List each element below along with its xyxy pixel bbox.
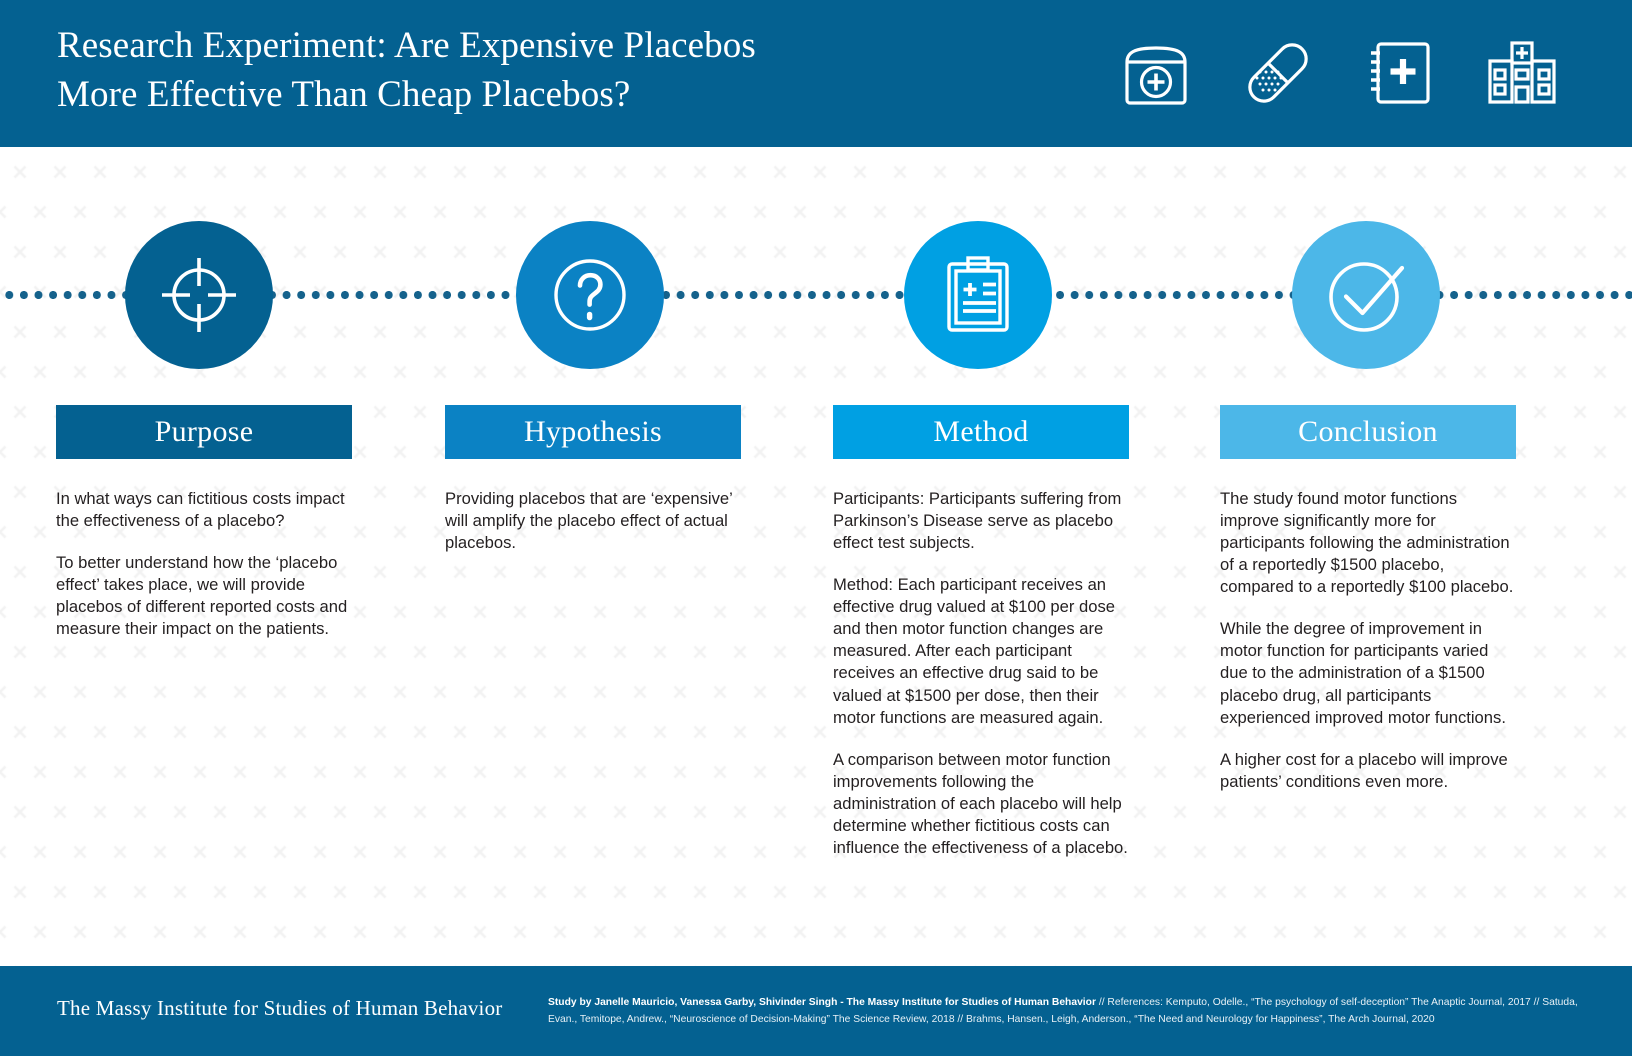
paragraph: Providing placebos that are ‘expensive’ … — [445, 488, 741, 554]
check-circle-icon — [1317, 246, 1415, 344]
column-label-method: Method — [933, 415, 1028, 449]
medical-notebook-icon — [1358, 31, 1442, 115]
paragraph: While the degree of improvement in motor… — [1220, 618, 1516, 728]
footer-credits-and-references: Study by Janelle Mauricio, Vanessa Garby… — [548, 995, 1588, 1028]
medical-clipboard-icon — [932, 249, 1024, 341]
paragraph: Method: Each participant receives an eff… — [833, 574, 1129, 728]
column-header-conclusion: Conclusion — [1220, 405, 1516, 459]
column-label-purpose: Purpose — [155, 415, 254, 449]
timeline-step-conclusion — [1292, 221, 1440, 369]
column-header-purpose: Purpose — [56, 405, 352, 459]
footer-bar: The Massy Institute for Studies of Human… — [0, 966, 1632, 1056]
page-title-line2: More Effective Than Cheap Placebos? — [57, 74, 630, 115]
paragraph: To better understand how the ‘placebo ef… — [56, 552, 352, 640]
question-mark-circle-icon — [544, 249, 636, 341]
column-purpose: Purpose In what ways can fictitious cost… — [56, 405, 352, 640]
column-body-conclusion: The study found motor functions improve … — [1220, 488, 1516, 793]
page-title-line1: Research Experiment: Are Expensive Place… — [57, 25, 756, 66]
paragraph: The study found motor functions improve … — [1220, 488, 1516, 598]
paragraph: In what ways can fictitious costs impact… — [56, 488, 352, 532]
paragraph: A comparison between motor function impr… — [833, 749, 1129, 859]
header-icon-group — [1114, 31, 1564, 115]
column-body-purpose: In what ways can fictitious costs impact… — [56, 488, 352, 640]
column-label-conclusion: Conclusion — [1298, 415, 1438, 449]
target-crosshair-icon — [153, 249, 245, 341]
column-body-method: Participants: Participants suffering fro… — [833, 488, 1129, 859]
timeline-step-hypothesis — [516, 221, 664, 369]
column-label-hypothesis: Hypothesis — [524, 415, 662, 449]
first-aid-kit-icon — [1114, 31, 1198, 115]
paragraph: A higher cost for a placebo will improve… — [1220, 749, 1516, 793]
capsule-pill-icon — [1236, 31, 1320, 115]
column-method: Method Participants: Participants suffer… — [833, 405, 1129, 859]
header-bar: Research Experiment: Are Expensive Place… — [0, 0, 1632, 147]
timeline-step-method — [904, 221, 1052, 369]
paragraph: Participants: Participants suffering fro… — [833, 488, 1129, 554]
page-title: Research Experiment: Are Expensive Place… — [57, 22, 957, 120]
column-body-hypothesis: Providing placebos that are ‘expensive’ … — [445, 488, 741, 554]
footer-institute-name: The Massy Institute for Studies of Human… — [57, 996, 502, 1021]
footer-study-credit: Study by Janelle Mauricio, Vanessa Garby… — [548, 997, 1096, 1008]
timeline-step-purpose — [125, 221, 273, 369]
infographic-poster: Research Experiment: Are Expensive Place… — [0, 0, 1632, 1056]
column-header-method: Method — [833, 405, 1129, 459]
column-conclusion: Conclusion The study found motor functio… — [1220, 405, 1516, 793]
column-hypothesis: Hypothesis Providing placebos that are ‘… — [445, 405, 741, 554]
column-header-hypothesis: Hypothesis — [445, 405, 741, 459]
hospital-building-icon — [1480, 31, 1564, 115]
